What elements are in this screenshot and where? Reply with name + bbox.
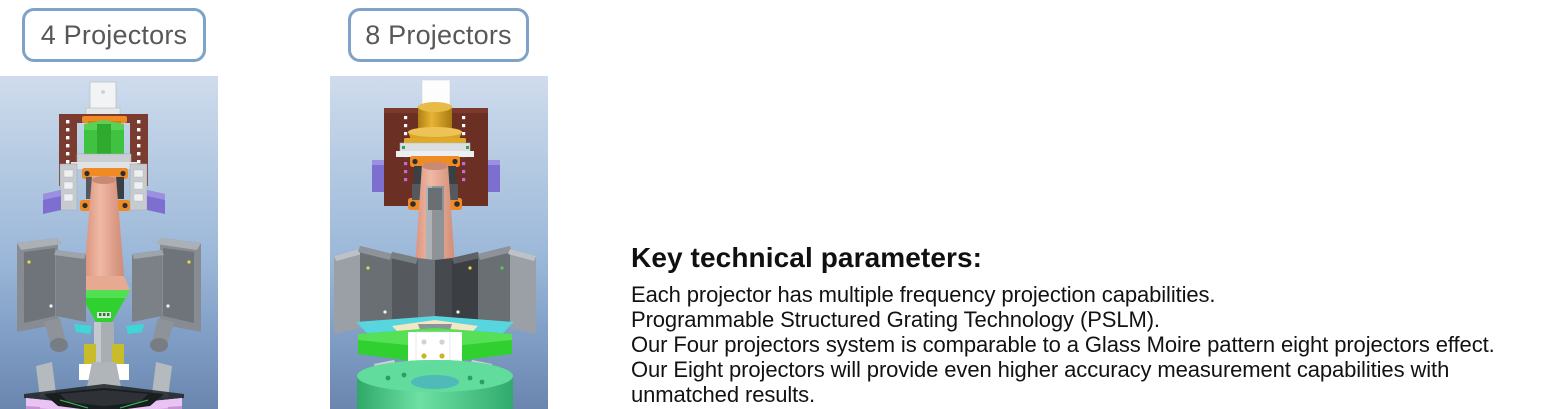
cad-image-8-projectors <box>330 76 548 409</box>
cad-panel-8-projectors <box>330 76 548 409</box>
spec-line-3: Our Four projectors system is comparable… <box>631 332 1551 357</box>
chip-8-projectors[interactable]: 8 Projectors <box>348 8 529 62</box>
spec-line-4: Our Eight projectors will provide even h… <box>631 357 1551 407</box>
spec-line-2: Programmable Structured Grating Technolo… <box>631 307 1551 332</box>
spec-line-1: Each projector has multiple frequency pr… <box>631 282 1551 307</box>
slide-canvas: 4 Projectors 8 Projectors <box>0 0 1559 409</box>
key-parameters-heading: Key technical parameters: <box>631 241 1551 275</box>
cad-panel-4-projectors <box>0 76 218 409</box>
cad-image-4-projectors <box>0 76 218 409</box>
chip-4-projectors[interactable]: 4 Projectors <box>22 8 206 62</box>
key-parameters-block: Key technical parameters: Each projector… <box>631 241 1551 407</box>
